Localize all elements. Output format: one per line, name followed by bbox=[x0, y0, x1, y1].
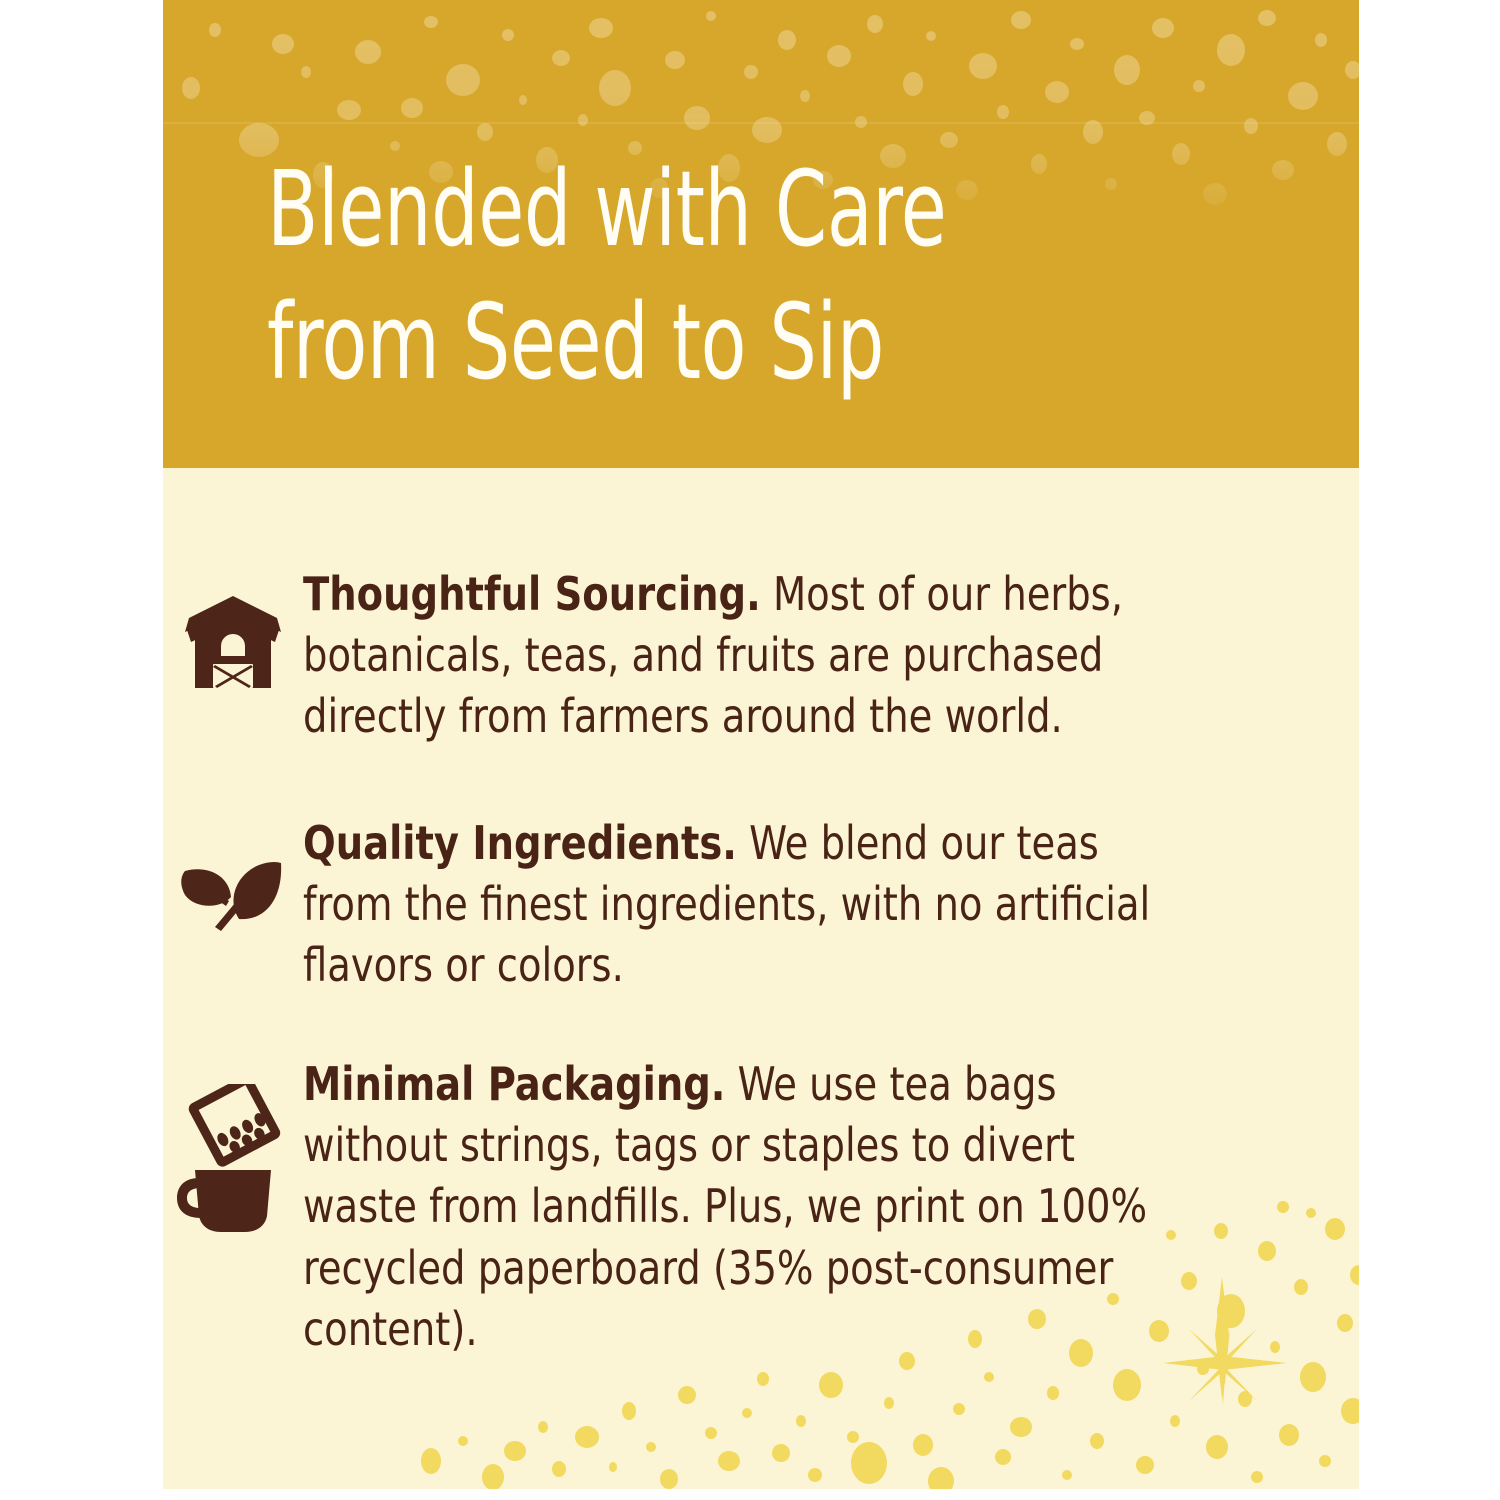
brand-promo-card: Blended with Care from Seed to Sip bbox=[163, 0, 1359, 1489]
feature-text: Minimal Packaging. We use tea bags witho… bbox=[303, 1054, 1168, 1360]
list-item: Minimal Packaging. We use tea bags witho… bbox=[163, 1054, 1359, 1360]
feature-text: Quality Ingredients. We blend our teas f… bbox=[303, 813, 1168, 997]
barn-icon bbox=[163, 564, 303, 692]
page-title-line-2: from Seed to Sip bbox=[267, 276, 1099, 409]
feature-heading: Thoughtful Sourcing. bbox=[303, 567, 761, 621]
page-title: Blended with Care from Seed to Sip bbox=[267, 143, 1099, 409]
list-item: Quality Ingredients. We blend our teas f… bbox=[163, 813, 1359, 997]
teabag-mug-icon bbox=[163, 1054, 303, 1234]
feature-heading: Quality Ingredients. bbox=[303, 816, 737, 870]
header-seam-line bbox=[163, 122, 1359, 124]
feature-heading: Minimal Packaging. bbox=[303, 1057, 725, 1111]
promo-card-stage: Blended with Care from Seed to Sip bbox=[0, 0, 1500, 1500]
leaves-icon bbox=[163, 813, 303, 949]
card-header: Blended with Care from Seed to Sip bbox=[163, 0, 1359, 468]
page-title-line-1: Blended with Care bbox=[267, 143, 1099, 276]
feature-text: Thoughtful Sourcing. Most of our herbs, … bbox=[303, 564, 1168, 748]
list-item: Thoughtful Sourcing. Most of our herbs, … bbox=[163, 564, 1359, 748]
